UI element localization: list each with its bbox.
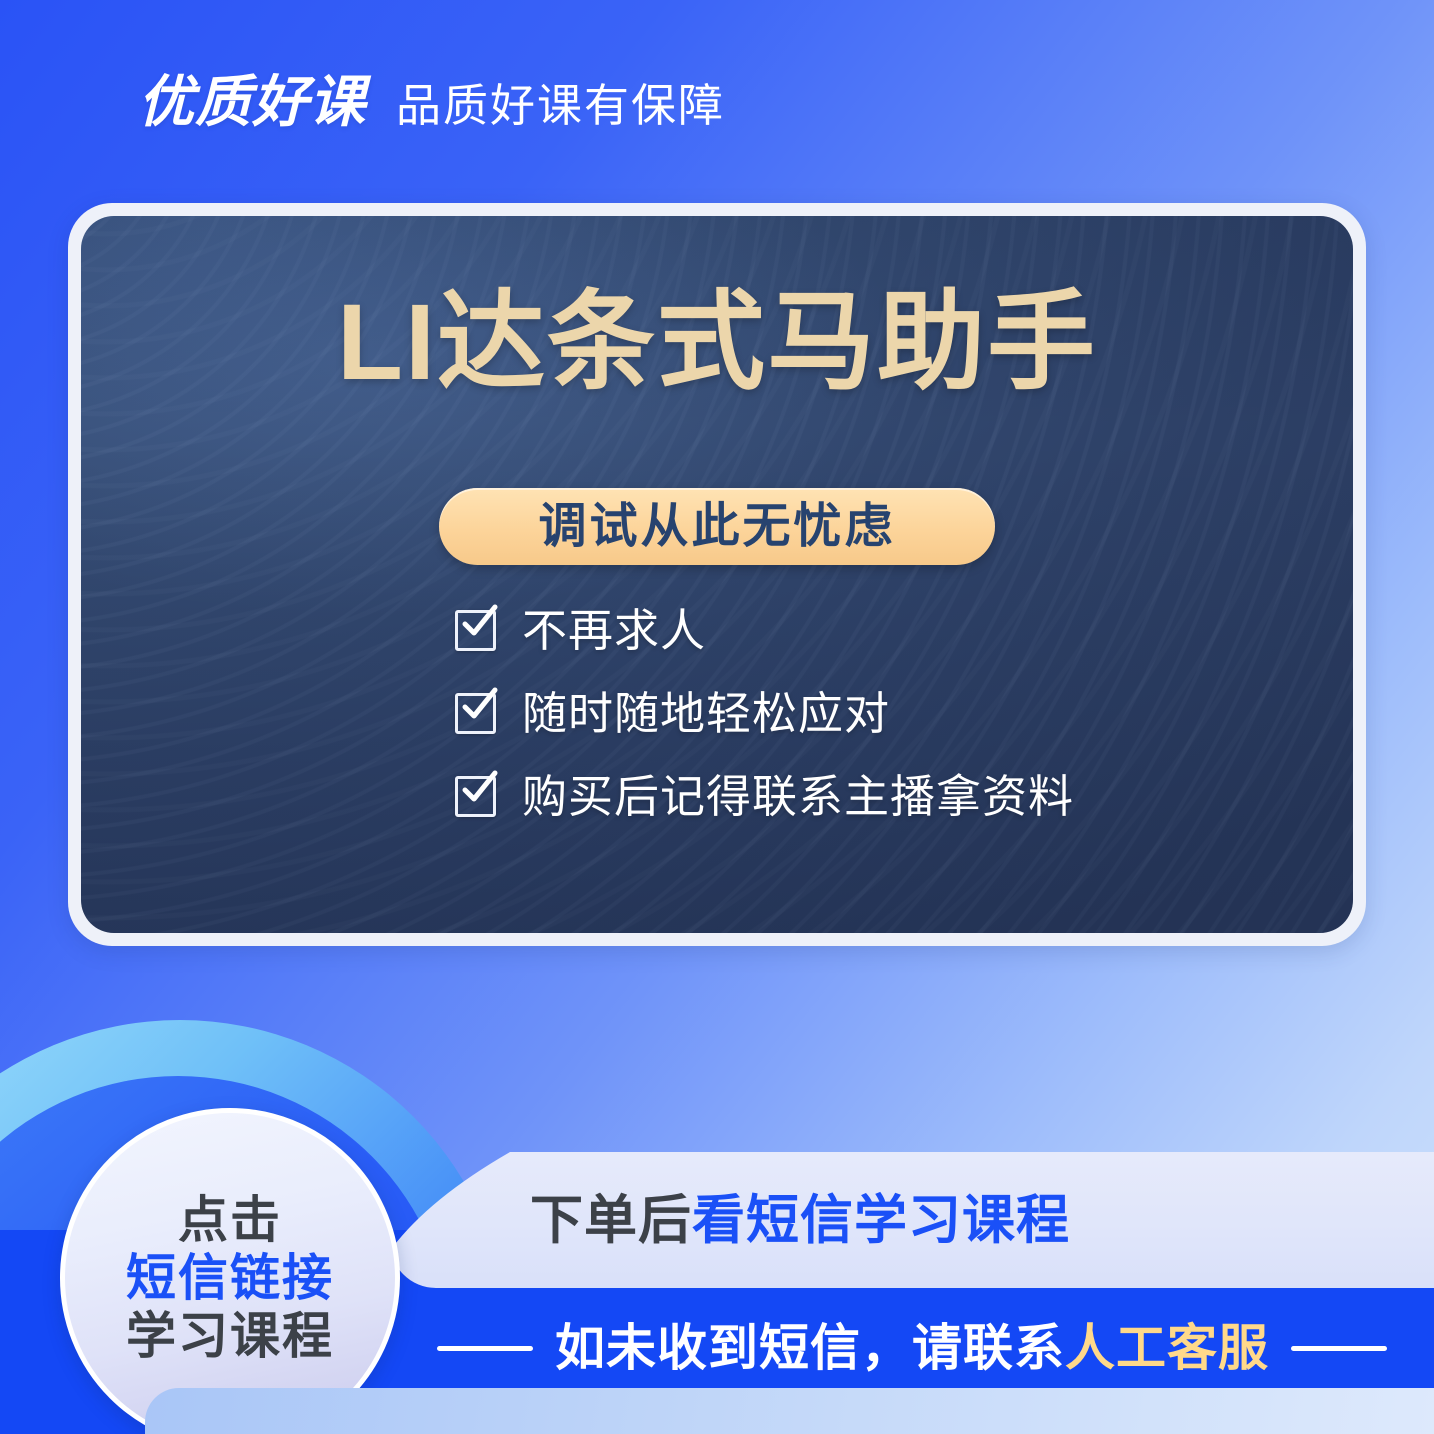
card-content: LI达条式马助手 调试从此无忧虑 不再求人	[81, 216, 1353, 933]
divider-dash-left	[437, 1346, 533, 1351]
card-badge-pill: 调试从此无忧虑	[439, 488, 995, 565]
cta-text: 下单后看短信学习课程	[530, 1194, 1070, 1247]
feature-label: 随时随地轻松应对	[522, 691, 890, 736]
feature-card: LI达条式马助手 调试从此无忧虑 不再求人	[81, 216, 1353, 933]
brand-logo-text: 优质好课	[138, 74, 366, 130]
checkbox-checked-icon	[455, 776, 496, 817]
brand-tagline: 品质好课有保障	[396, 83, 725, 128]
cta-panel[interactable]: 下单后看短信学习课程	[390, 1152, 1434, 1288]
support-prefix: 如未收到短信，请联系	[555, 1320, 1065, 1376]
cta-highlight: 看短信学习课程	[692, 1191, 1070, 1250]
circle-badge-line-3: 学习课程	[126, 1309, 334, 1363]
feature-item: 随时随地轻松应对	[455, 691, 1074, 736]
support-text: 如未收到短信，请联系人工客服	[555, 1323, 1269, 1373]
feature-label: 购买后记得联系主播拿资料	[522, 774, 1074, 819]
support-highlight[interactable]: 人工客服	[1065, 1320, 1269, 1376]
click-sms-circle-badge[interactable]: 点击 短信链接 学习课程	[60, 1108, 400, 1434]
promo-banner: 优质好课 品质好课有保障 LI达条式马助手 调试从此无忧虑	[0, 0, 1434, 1434]
bottom-light-strip	[145, 1388, 1434, 1434]
cta-prefix: 下单后	[530, 1191, 692, 1250]
support-row: 如未收到短信，请联系人工客服	[390, 1306, 1434, 1390]
feature-item: 不再求人	[455, 608, 1074, 653]
feature-list: 不再求人 随时随地轻松应对	[455, 608, 1074, 819]
feature-card-frame: LI达条式马助手 调试从此无忧虑 不再求人	[68, 203, 1366, 946]
feature-label: 不再求人	[522, 608, 706, 653]
circle-badge-line-2: 短信链接	[126, 1251, 334, 1305]
divider-dash-right	[1291, 1346, 1387, 1351]
checkbox-checked-icon	[455, 610, 496, 651]
circle-badge-line-1: 点击	[178, 1193, 282, 1247]
feature-item: 购买后记得联系主播拿资料	[455, 774, 1074, 819]
checkbox-checked-icon	[455, 693, 496, 734]
card-title: LI达条式马助手	[81, 288, 1353, 396]
card-badge-label: 调试从此无忧虑	[538, 503, 895, 551]
header: 优质好课 品质好课有保障	[138, 74, 725, 130]
